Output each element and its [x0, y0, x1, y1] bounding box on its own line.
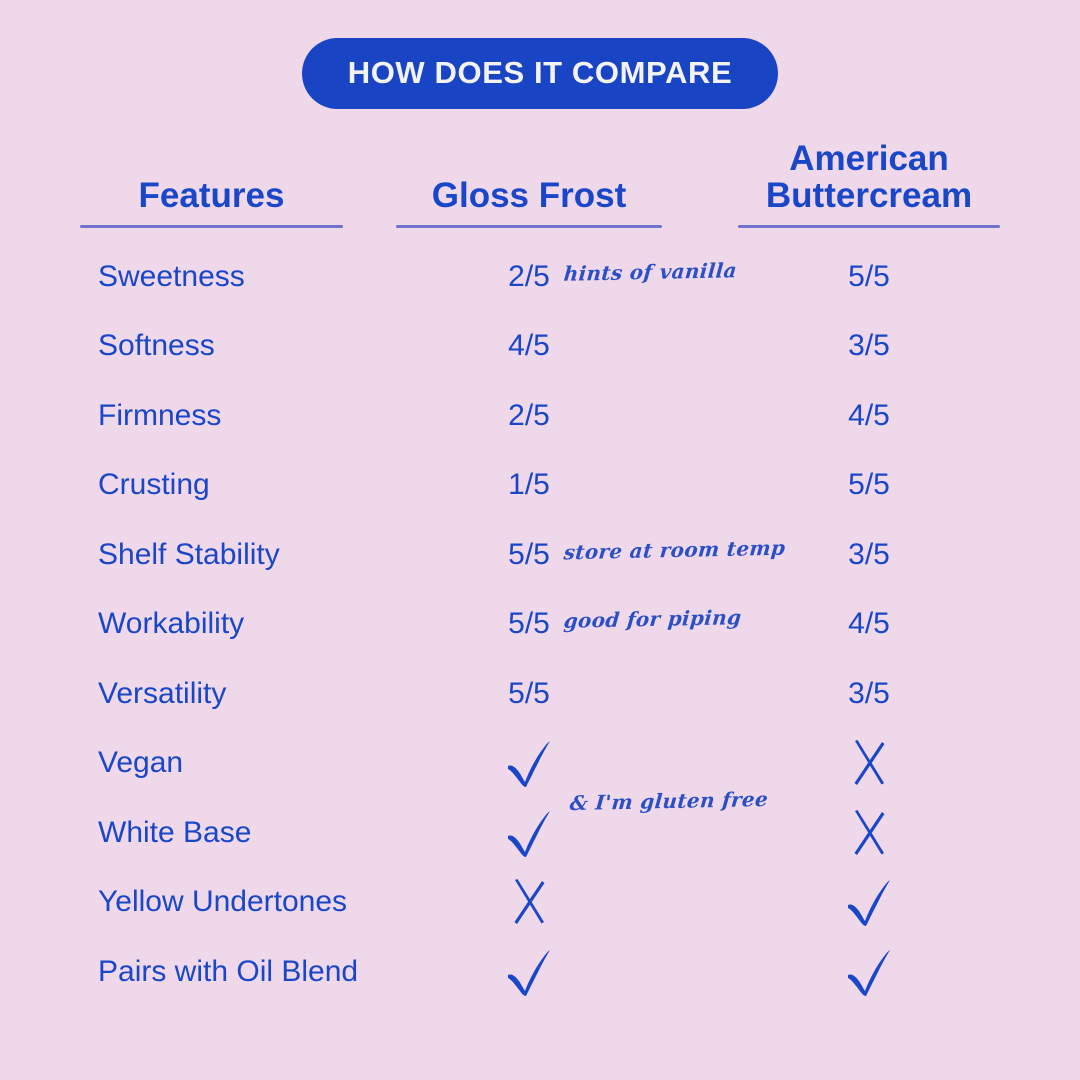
handwritten-note: good for piping [563, 605, 743, 633]
table-row: Yellow Undertones [0, 868, 1080, 938]
row-value-gloss-frost: 5/5store at room temp [396, 520, 662, 590]
rating-value: 4/5 [508, 329, 550, 363]
row-value-gloss-frost: & I'm gluten free [396, 729, 662, 799]
banner: HOW DOES IT COMPARE [0, 38, 1080, 109]
table-row: Crusting1/55/5 [0, 451, 1080, 521]
row-value-american-buttercream [738, 798, 1000, 868]
table-row: Sweetness2/5hints of vanilla5/5 [0, 242, 1080, 312]
row-value-gloss-frost: 4/5 [396, 312, 662, 382]
header-rule-features [80, 225, 343, 228]
check-icon [502, 946, 556, 998]
row-value-american-buttercream [738, 729, 1000, 799]
handwritten-note: hints of vanilla [563, 258, 738, 286]
table-row: Pairs with Oil Blend [0, 937, 1080, 1007]
rating-value: 4/5 [848, 607, 890, 641]
table-row: Shelf Stability5/5store at room temp3/5 [0, 520, 1080, 590]
column-header-features: Features [80, 177, 343, 214]
rating-value: 3/5 [848, 677, 890, 711]
row-feature-label: Firmness [98, 381, 428, 451]
row-value-gloss-frost: 2/5 [396, 381, 662, 451]
header-rule-gloss-frost [396, 225, 662, 228]
row-value-american-buttercream: 5/5 [738, 242, 1000, 312]
rating-value: 1/5 [508, 468, 550, 502]
table-header-row: Features Gloss Frost American Buttercrea… [0, 128, 1080, 236]
rating-value: 5/5store at room temp [508, 538, 550, 572]
row-feature-label: Versatility [98, 659, 428, 729]
row-feature-label: Shelf Stability [98, 520, 428, 590]
cross-icon [506, 876, 552, 928]
row-feature-label: Vegan [98, 729, 428, 799]
cross-icon [846, 737, 892, 789]
row-feature-label: Pairs with Oil Blend [98, 937, 428, 1007]
row-value-american-buttercream: 4/5 [738, 590, 1000, 660]
table-body: Sweetness2/5hints of vanilla5/5Softness4… [0, 242, 1080, 1007]
row-feature-label: Crusting [98, 451, 428, 521]
row-value-gloss-frost [396, 937, 662, 1007]
row-value-gloss-frost [396, 798, 662, 868]
row-value-american-buttercream: 3/5 [738, 312, 1000, 382]
rating-value: 3/5 [848, 538, 890, 572]
table-row: Workability5/5good for piping4/5 [0, 590, 1080, 660]
check-icon: & I'm gluten free [502, 737, 556, 789]
table-row: Versatility5/53/5 [0, 659, 1080, 729]
rating-value: 5/5 [848, 260, 890, 294]
banner-title: HOW DOES IT COMPARE [302, 38, 779, 109]
column-header-gloss-frost: Gloss Frost [396, 177, 662, 214]
rating-value: 4/5 [848, 399, 890, 433]
row-feature-label: Yellow Undertones [98, 868, 428, 938]
row-feature-label: Sweetness [98, 242, 428, 312]
rating-value: 3/5 [848, 329, 890, 363]
table-row: Firmness2/54/5 [0, 381, 1080, 451]
header-rule-american-buttercream [738, 225, 1000, 228]
row-feature-label: Workability [98, 590, 428, 660]
rating-value: 5/5 [508, 677, 550, 711]
check-icon [502, 807, 556, 859]
row-feature-label: Softness [98, 312, 428, 382]
rating-value: 5/5 [848, 468, 890, 502]
row-value-gloss-frost: 1/5 [396, 451, 662, 521]
table-row: Softness4/53/5 [0, 312, 1080, 382]
row-value-american-buttercream: 3/5 [738, 520, 1000, 590]
rating-value: 2/5 [508, 399, 550, 433]
row-value-gloss-frost: 5/5good for piping [396, 590, 662, 660]
table-row: Vegan& I'm gluten free [0, 729, 1080, 799]
row-value-gloss-frost: 2/5hints of vanilla [396, 242, 662, 312]
comparison-table: Features Gloss Frost American Buttercrea… [0, 128, 1080, 1007]
row-value-american-buttercream [738, 868, 1000, 938]
row-value-gloss-frost: 5/5 [396, 659, 662, 729]
table-row: White Base [0, 798, 1080, 868]
row-value-american-buttercream [738, 937, 1000, 1007]
rating-value: 5/5good for piping [508, 607, 550, 641]
column-header-american-buttercream: American Buttercream [738, 140, 1000, 214]
row-value-american-buttercream: 5/5 [738, 451, 1000, 521]
row-feature-label: White Base [98, 798, 428, 868]
rating-value: 2/5hints of vanilla [508, 260, 550, 294]
check-icon [842, 946, 896, 998]
row-value-gloss-frost [396, 868, 662, 938]
row-value-american-buttercream: 4/5 [738, 381, 1000, 451]
row-value-american-buttercream: 3/5 [738, 659, 1000, 729]
check-icon [842, 876, 896, 928]
cross-icon [846, 807, 892, 859]
